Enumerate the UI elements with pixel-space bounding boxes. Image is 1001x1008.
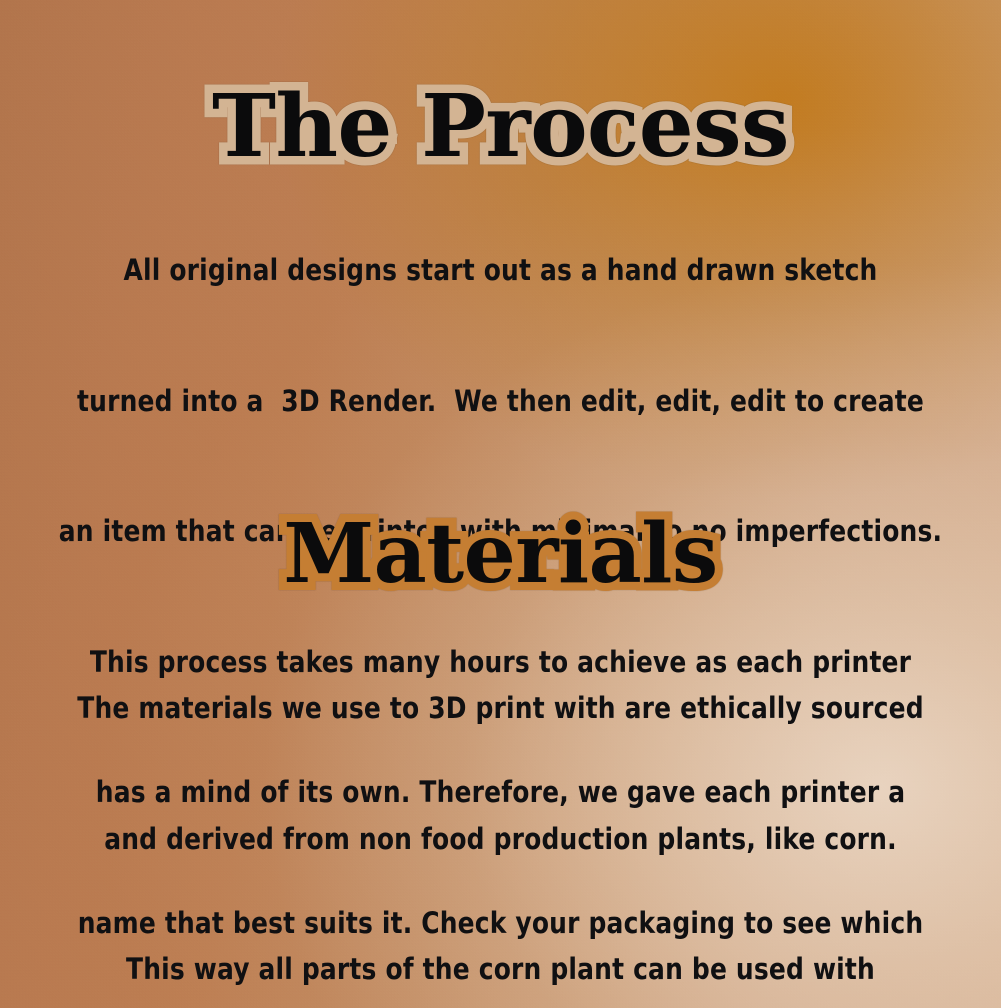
poster-content: The Process All original designs start o… (0, 0, 1001, 1008)
body-line: and derived from non food production pla… (30, 818, 971, 862)
section-body-materials: The materials we use to 3D print with ar… (30, 600, 971, 1008)
poster-canvas: The Process All original designs start o… (0, 0, 1001, 1008)
section-heading-process: The Process (0, 84, 1001, 170)
body-line: This way all parts of the corn plant can… (30, 948, 971, 992)
body-line: All original designs start out as a hand… (30, 249, 971, 293)
body-line: turned into a 3D Render. We then edit, e… (30, 380, 971, 424)
section-heading-materials: Materials (0, 513, 1001, 595)
body-line: The materials we use to 3D print with ar… (30, 687, 971, 731)
